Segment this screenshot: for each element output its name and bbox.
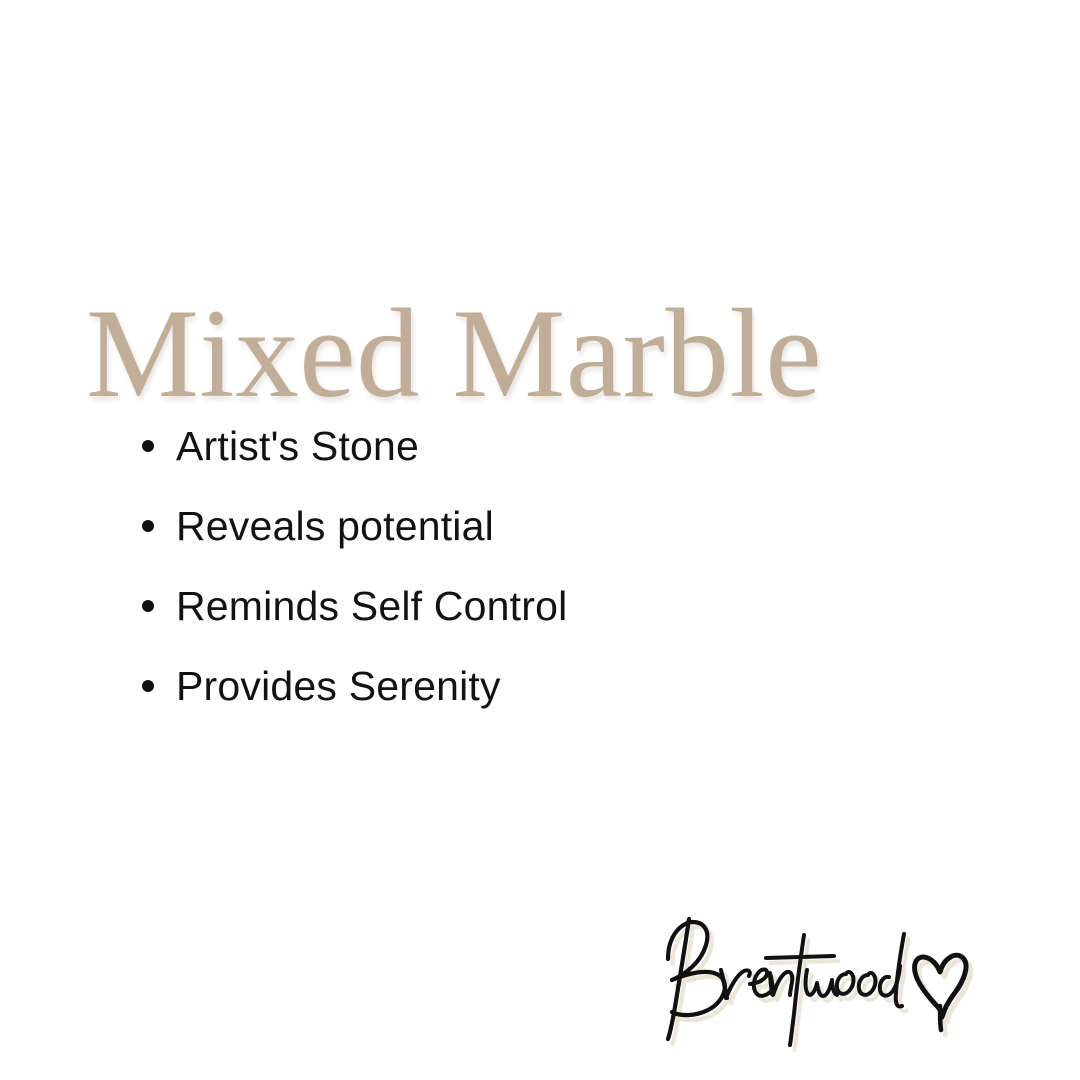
brand-wordmark-script xyxy=(648,902,988,1052)
brand-logo: Brentwood xyxy=(648,902,988,1052)
feature-list: Artist's Stone Reveals potential Reminds… xyxy=(140,406,1000,726)
bullet-dot-icon xyxy=(142,520,154,532)
list-item-label: Reminds Self Control xyxy=(176,586,567,627)
list-item: Reminds Self Control xyxy=(140,566,1000,646)
list-item-label: Reveals potential xyxy=(176,506,494,547)
bullet-dot-icon xyxy=(142,600,154,612)
list-item-label: Artist's Stone xyxy=(176,426,419,467)
list-item-label: Provides Serenity xyxy=(176,666,501,707)
list-item: Artist's Stone xyxy=(140,406,1000,486)
list-item: Reveals potential xyxy=(140,486,1000,566)
page-title: Mixed Marble xyxy=(86,291,986,418)
marble-info-card: Mixed Marble Artist's Stone Reveals pote… xyxy=(0,0,1080,1080)
bullet-dot-icon xyxy=(142,680,154,692)
bullet-dot-icon xyxy=(142,440,154,452)
list-item: Provides Serenity xyxy=(140,646,1000,726)
